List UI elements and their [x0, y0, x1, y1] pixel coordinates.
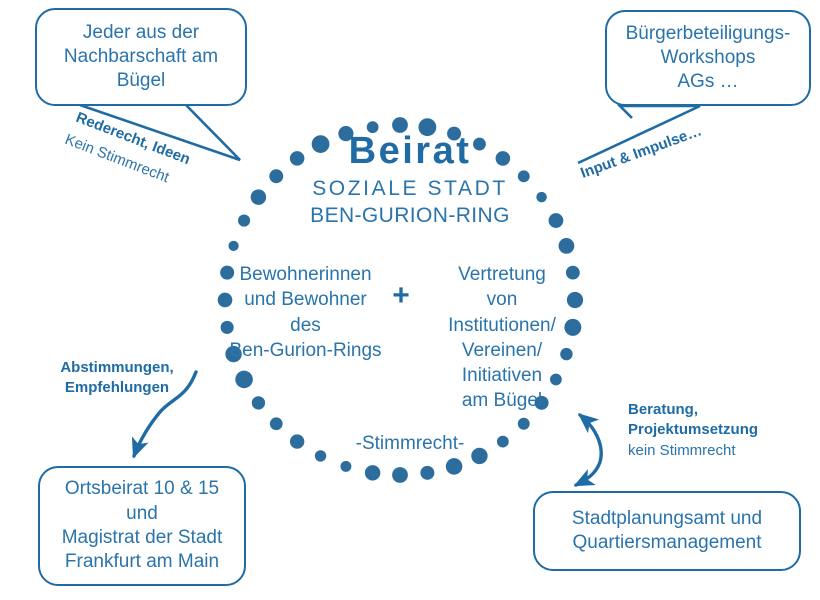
ring-dot	[235, 371, 253, 389]
annotation-abstimmungen-empfehlungen: Abstimmungen, Empfehlungen	[42, 358, 192, 398]
members-column-institutions: Vertretung von Institutionen/ Vereinen/ …	[422, 262, 582, 414]
ring-dot	[228, 241, 238, 251]
speech-bubble-participation: Bürgerbeteiligungs- Workshops AGs …	[605, 10, 811, 106]
ring-dot	[446, 458, 463, 475]
members-column-residents: Bewohnerinnen und Bewohner des Ben-Gurio…	[218, 262, 393, 363]
annotation-kein-stimmrecht-right: kein Stimmrecht	[628, 441, 808, 461]
speech-bubble-neighbourhood-text: Jeder aus der Nachbarschaft am Bügel	[54, 21, 228, 94]
ring-dot	[340, 461, 351, 472]
box-ortsbeirat-magistrat-text: Ortsbeirat 10 & 15 und Magistrat der Sta…	[52, 477, 233, 574]
plus-icon: +	[385, 278, 417, 315]
ring-dot	[559, 238, 575, 254]
ring-dot	[290, 434, 304, 448]
ring-dot	[365, 465, 380, 480]
ring-dot	[238, 214, 250, 226]
ring-dot	[392, 467, 408, 483]
speech-bubble-neighbourhood: Jeder aus der Nachbarschaft am Bügel	[35, 8, 247, 106]
box-stadtplanungsamt-quartiersmanagement-text: Stadtplanungsamt und Quartiersmanagement	[562, 507, 772, 556]
voting-rights-note: -Stimmrecht-	[320, 432, 500, 455]
ring-dot	[420, 466, 434, 480]
speech-bubble-participation-text: Bürgerbeteiligungs- Workshops AGs …	[616, 22, 801, 95]
box-stadtplanungsamt-quartiersmanagement: Stadtplanungsamt und Quartiersmanagement	[533, 491, 801, 571]
annotation-beratung-projektumsetzung: Beratung, Projektumsetzung	[628, 400, 808, 440]
box-ortsbeirat-magistrat: Ortsbeirat 10 & 15 und Magistrat der Sta…	[38, 466, 246, 586]
diagram-title: Beirat	[290, 128, 530, 174]
diagram-subtitle-location: BEN-GURION-RING	[270, 203, 550, 229]
ring-dot	[252, 396, 265, 409]
ring-dot	[518, 418, 530, 430]
ring-dot	[549, 213, 564, 228]
diagram-subtitle-program: SOZIALE STADT	[270, 176, 550, 202]
diagram-canvas: Jeder aus der Nachbarschaft am Bügel Bür…	[0, 0, 820, 600]
ring-dot	[251, 189, 267, 205]
arrow-consulting-bidirectional	[576, 415, 601, 485]
ring-dot	[270, 417, 283, 430]
